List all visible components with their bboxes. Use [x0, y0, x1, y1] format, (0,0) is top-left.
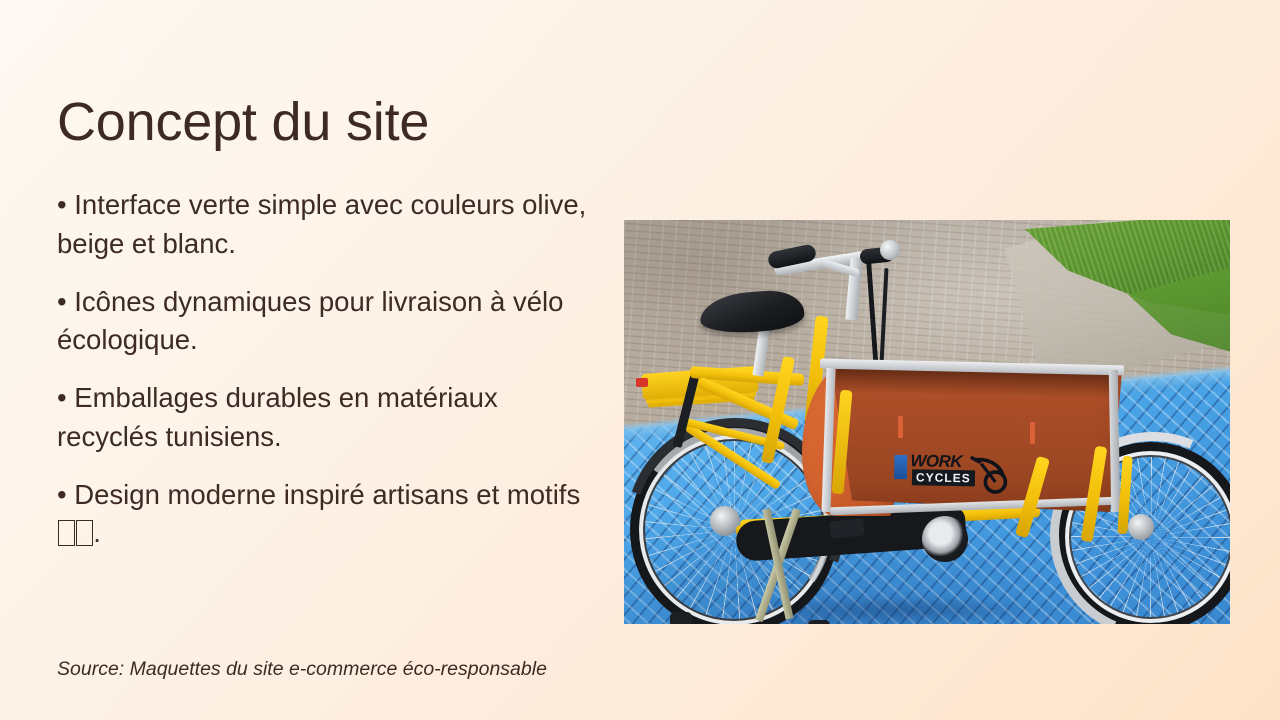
cargo-bike-photo: WORK CYCLES: [624, 220, 1230, 624]
bicycle-icon: [968, 454, 1013, 495]
kickstand-foot-left: [670, 612, 692, 624]
bullet-list: • Interface verte simple avec couleurs o…: [57, 186, 602, 553]
kickstand-foot-right: [808, 620, 830, 624]
cargo-box-slat: [1030, 422, 1035, 444]
logo-bar-icon: [894, 455, 907, 479]
logo-word-bottom: CYCLES: [912, 469, 975, 486]
bullet-text: Design moderne inspiré artisans et motif…: [74, 479, 580, 510]
pedal: [829, 518, 865, 538]
source-caption: Source: Maquettes du site e-commerce éco…: [57, 657, 547, 682]
bullet-marker: •: [57, 286, 67, 317]
bullet-marker: •: [57, 382, 67, 413]
bullet-text: Emballages durables en matériaux recyclé…: [57, 382, 498, 452]
list-item: • Icônes dynamiques pour livraison à vél…: [57, 283, 602, 361]
work-cycles-logo: WORK CYCLES: [894, 451, 1015, 505]
bicycle-bell: [880, 240, 900, 260]
list-item: • Emballages durables en matériaux recyc…: [57, 379, 602, 457]
bullet-text-suffix: .: [93, 517, 101, 548]
chainring: [922, 516, 968, 562]
cargo-box-slat: [898, 416, 903, 438]
bullet-marker: •: [57, 189, 67, 220]
slide: Concept du site • Interface verte simple…: [0, 0, 1280, 720]
list-item: • Design moderne inspiré artisans et mot…: [57, 476, 602, 554]
bullet-marker: •: [57, 479, 67, 510]
front-hub: [1128, 514, 1154, 540]
missing-glyph-icon: [76, 520, 93, 545]
bullet-text: Interface verte simple avec couleurs oli…: [57, 189, 586, 259]
list-item: • Interface verte simple avec couleurs o…: [57, 186, 602, 264]
page-title: Concept du site: [57, 92, 1057, 152]
tail-light: [636, 378, 648, 387]
missing-glyph-icon: [58, 520, 75, 545]
bullet-text: Icônes dynamiques pour livraison à vélo …: [57, 286, 563, 356]
